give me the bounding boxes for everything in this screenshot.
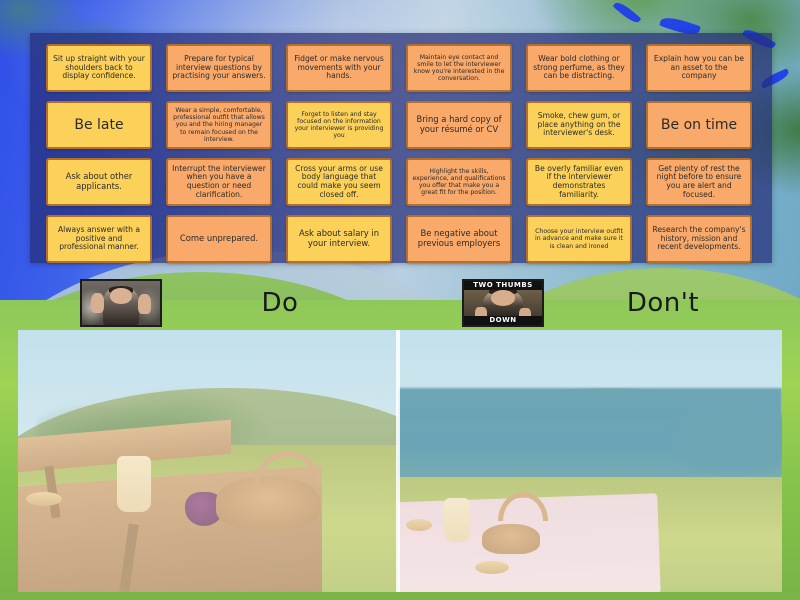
draggable-card[interactable]: Be overly familiar even if the interview…	[526, 158, 632, 206]
draggable-card[interactable]: Fidget or make nervous movements with yo…	[286, 44, 392, 92]
photo-caption-top: TWO THUMBS	[464, 281, 542, 290]
two-thumbs-down-photo: TWO THUMBS DOWN	[462, 279, 544, 327]
dropzone-dont[interactable]	[398, 330, 782, 592]
card-grid: Sit up straight with your shoulders back…	[46, 44, 752, 263]
draggable-card[interactable]: Wear bold clothing or strong perfume, as…	[526, 44, 632, 92]
draggable-card[interactable]: Be on time	[646, 101, 752, 149]
draggable-card[interactable]: Research the company's history, mission …	[646, 215, 752, 263]
card-tray: Sit up straight with your shoulders back…	[30, 33, 772, 263]
photo-caption-bottom: DOWN	[464, 316, 542, 325]
column-label-dont: Don't	[544, 288, 782, 318]
draggable-card[interactable]: Be late	[46, 101, 152, 149]
draggable-card[interactable]: Interrupt the interviewer when you have …	[166, 158, 272, 206]
column-header-do: Do	[80, 278, 398, 328]
draggable-card[interactable]: Always answer with a positive and profes…	[46, 215, 152, 263]
draggable-card[interactable]: Bring a hard copy of your résumé or CV	[406, 101, 512, 149]
draggable-card[interactable]: Be negative about previous employers	[406, 215, 512, 263]
draggable-card[interactable]: Smoke, chew gum, or place anything on th…	[526, 101, 632, 149]
draggable-card[interactable]: Maintain eye contact and smile to let th…	[406, 44, 512, 92]
draggable-card[interactable]: Ask about salary in your interview.	[286, 215, 392, 263]
draggable-card[interactable]: Cross your arms or use body language tha…	[286, 158, 392, 206]
draggable-card[interactable]: Ask about other applicants.	[46, 158, 152, 206]
draggable-card[interactable]: Choose your interview outfit in advance …	[526, 215, 632, 263]
draggable-card[interactable]: Explain how you can be an asset to the c…	[646, 44, 752, 92]
draggable-card[interactable]: Wear a simple, comfortable, professional…	[166, 101, 272, 149]
draggable-card[interactable]: Get plenty of rest the night before to e…	[646, 158, 752, 206]
dropzone-divider	[396, 330, 400, 592]
draggable-card[interactable]: Come unprepared.	[166, 215, 272, 263]
thumbs-up-photo	[80, 279, 162, 327]
column-label-do: Do	[162, 288, 398, 318]
column-header-dont: TWO THUMBS DOWN Don't	[462, 278, 782, 328]
dropzone-do[interactable]	[18, 330, 398, 592]
draggable-card[interactable]: Prepare for typical interview questions …	[166, 44, 272, 92]
draggable-card[interactable]: Highlight the skills, experience, and qu…	[406, 158, 512, 206]
draggable-card[interactable]: Sit up straight with your shoulders back…	[46, 44, 152, 92]
draggable-card[interactable]: Forget to listen and stay focused on the…	[286, 101, 392, 149]
